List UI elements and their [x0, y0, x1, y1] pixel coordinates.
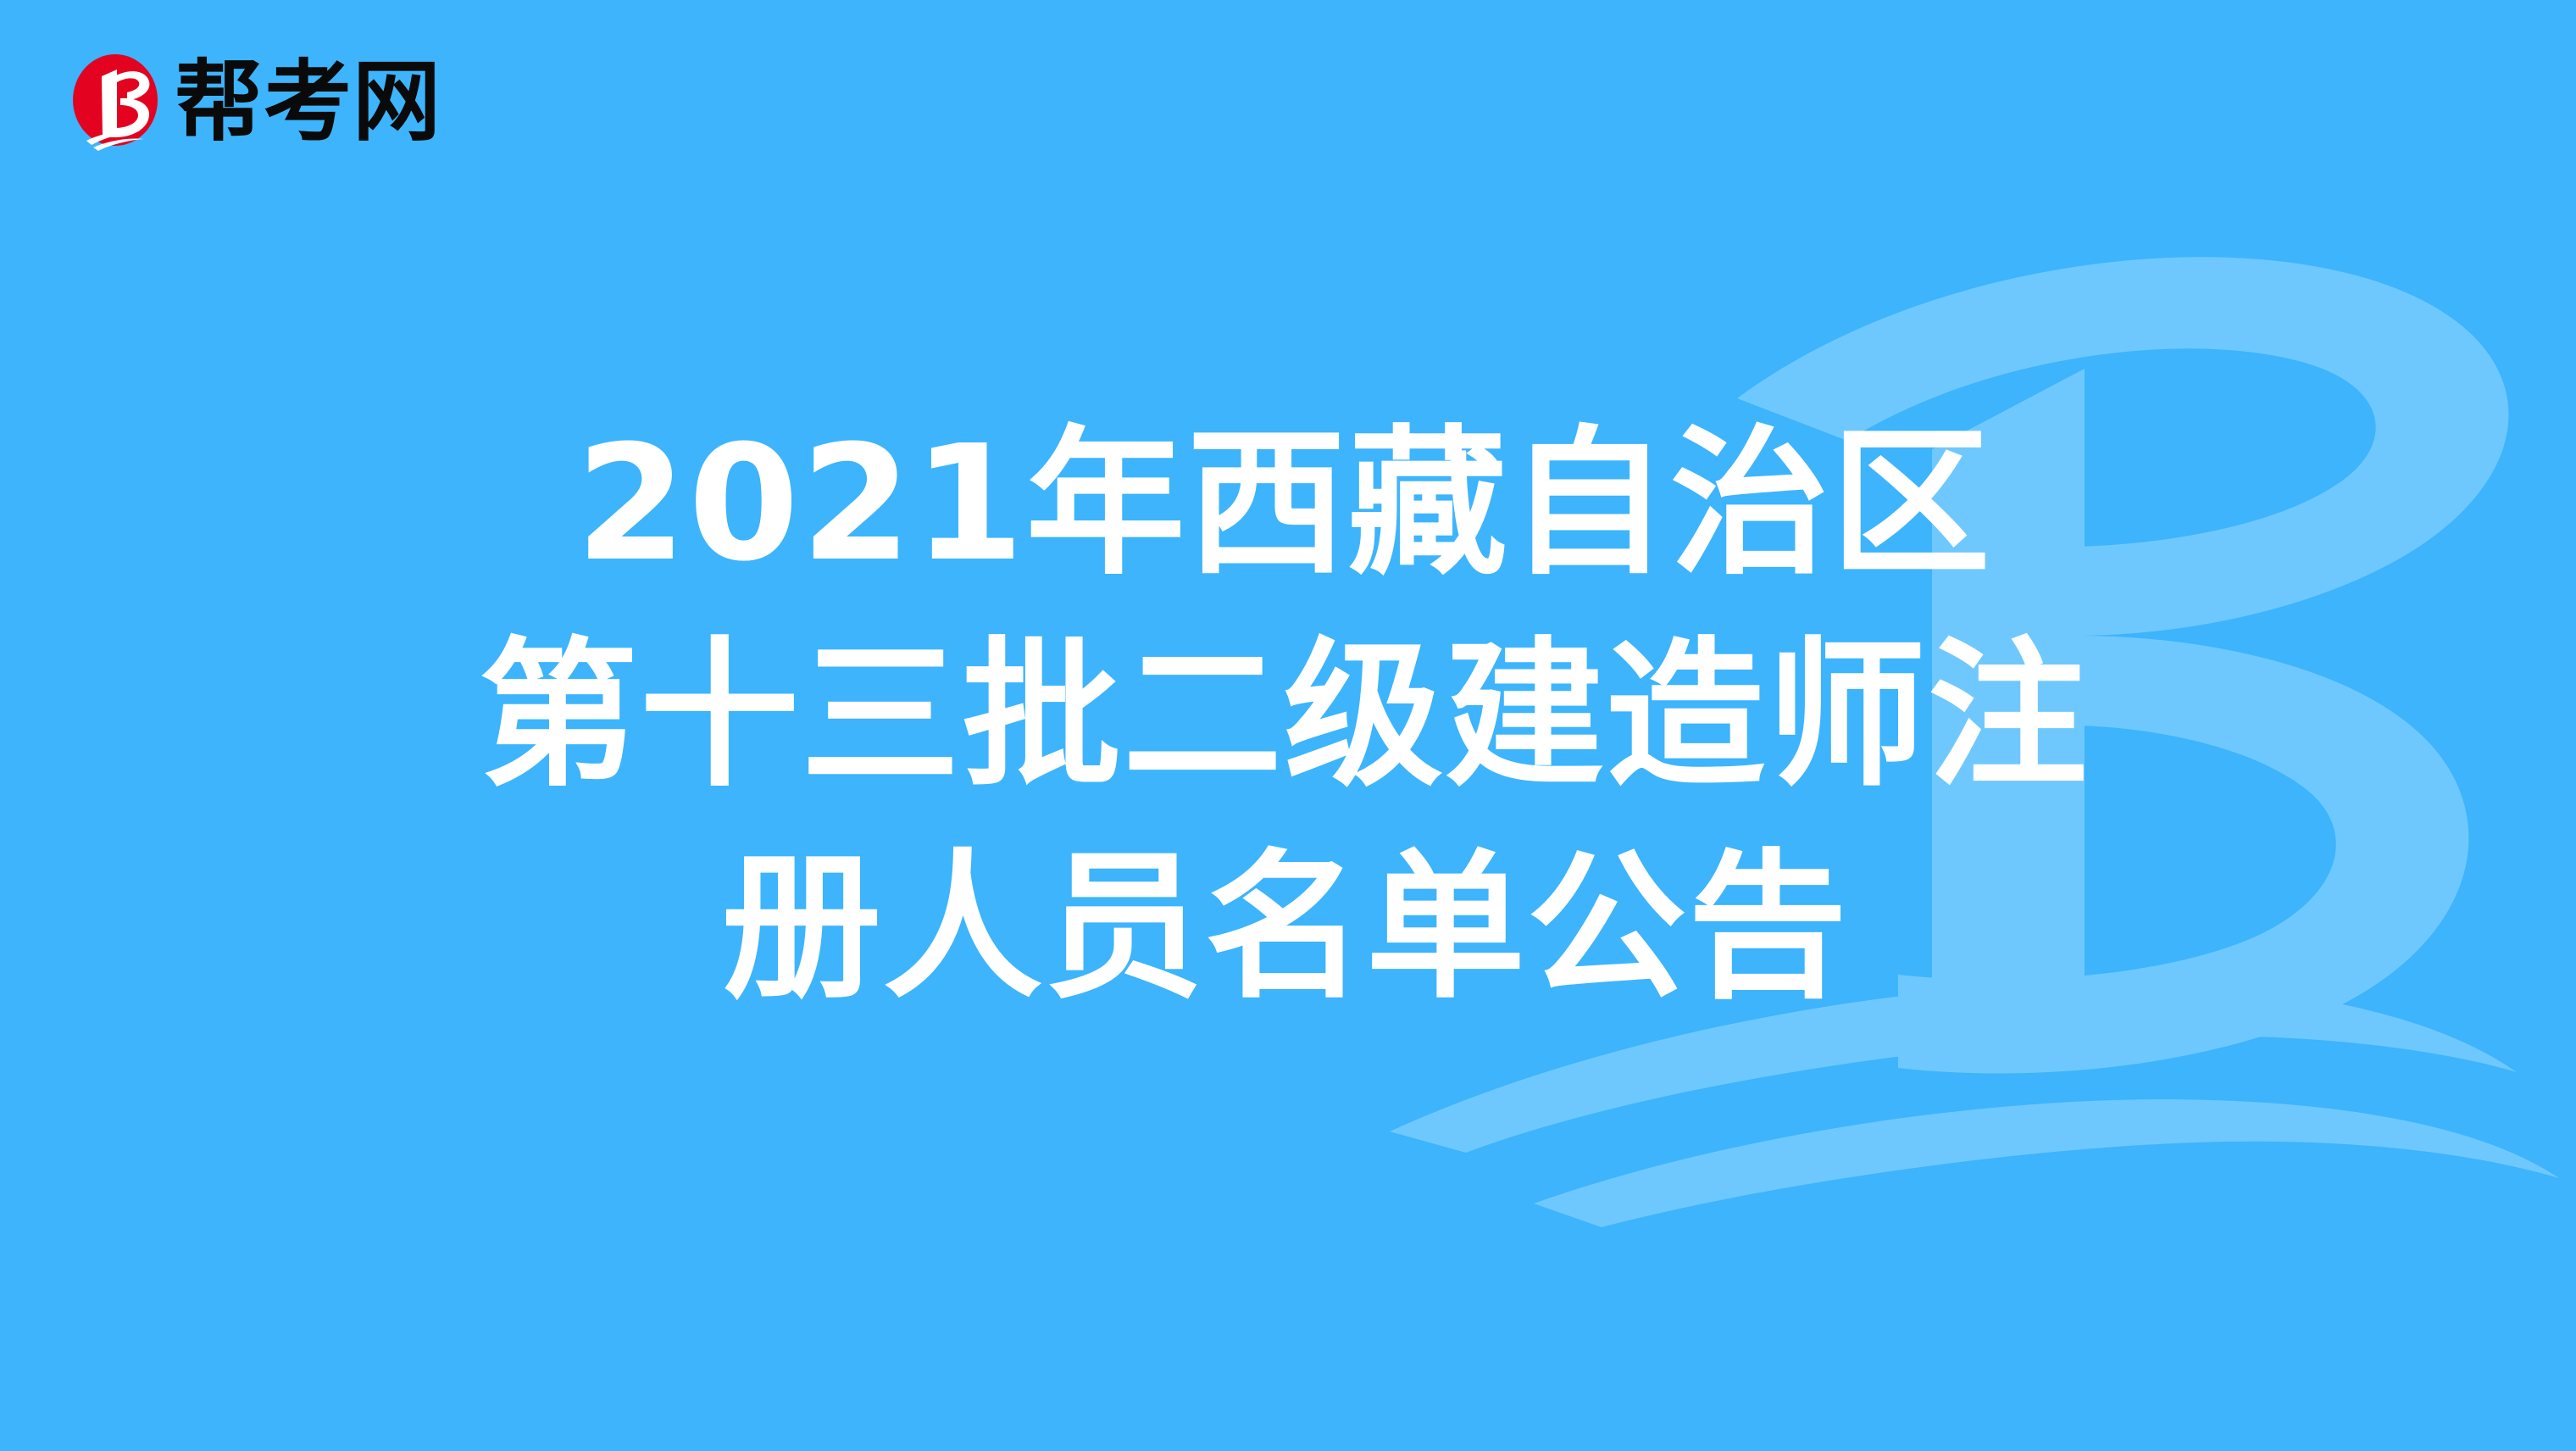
- page-title: 2021年西藏自治区 第十三批二级建造师注 册人员名单公告: [0, 398, 2576, 1034]
- site-logo-text: 帮考网: [175, 58, 441, 146]
- announcement-poster: 帮考网 2021年西藏自治区 第十三批二级建造师注 册人员名单公告: [0, 0, 2576, 1451]
- site-logo[interactable]: 帮考网: [68, 49, 441, 154]
- page-title-line-3: 册人员名单公告: [97, 822, 2474, 1034]
- page-title-line-1: 2021年西藏自治区: [93, 398, 2474, 610]
- page-title-line-2: 第十三批二级建造师注: [93, 610, 2474, 822]
- bangkao-b-logo-icon: [68, 49, 163, 154]
